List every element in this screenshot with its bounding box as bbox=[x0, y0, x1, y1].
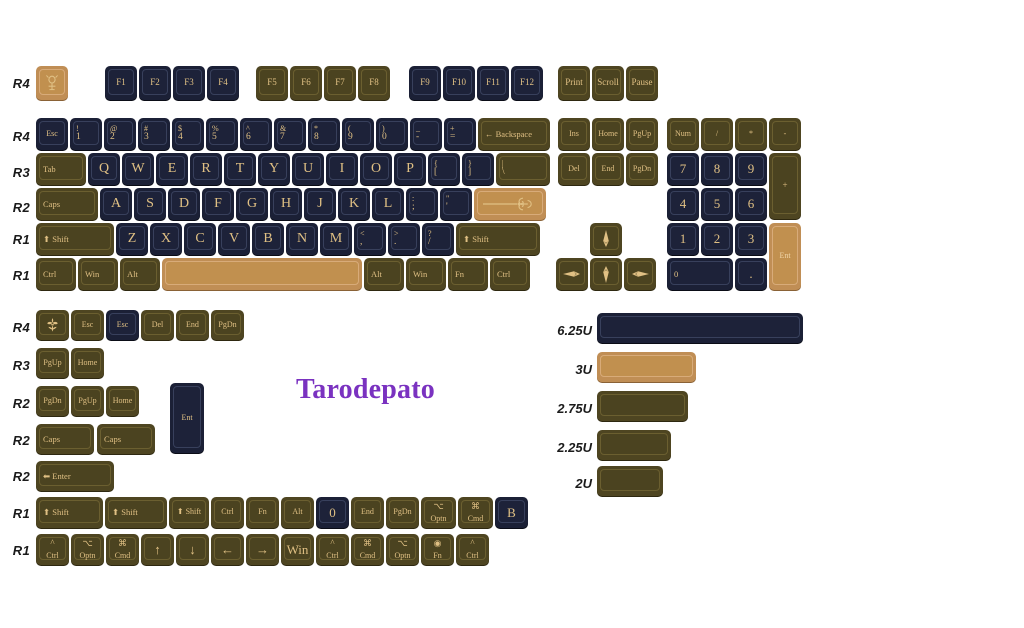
key-alt-r1b-arrow-right-6[interactable]: → bbox=[246, 534, 279, 565]
key-mod-alt-2[interactable]: Alt bbox=[120, 258, 160, 290]
row-label-mod: R1 bbox=[4, 268, 30, 283]
key-alt-r2-pgup-1[interactable]: PgUp bbox=[71, 386, 104, 416]
keycap-face bbox=[179, 537, 206, 560]
key-h[interactable]: H bbox=[270, 188, 302, 220]
keycap-face bbox=[39, 261, 73, 285]
key-caps[interactable]: Caps bbox=[36, 188, 98, 220]
key-alt-r1-pgdn-8[interactable]: PgDn bbox=[386, 497, 419, 528]
keycap-face bbox=[559, 261, 585, 285]
keycap-face bbox=[704, 121, 730, 145]
keycap-face bbox=[738, 121, 764, 145]
keycap-face bbox=[319, 500, 346, 523]
spacebar-size-label: 2.25U bbox=[540, 440, 592, 455]
keycap-face bbox=[108, 500, 164, 523]
keycap-face bbox=[153, 226, 179, 250]
keycap-face bbox=[261, 156, 287, 180]
key-numpad-5[interactable]: 5 bbox=[701, 188, 733, 220]
key-alt-caps-0[interactable]: Caps bbox=[36, 424, 94, 454]
keycap-face bbox=[259, 69, 285, 95]
key-alt-r1-0-6[interactable]: 0 bbox=[316, 497, 349, 528]
keycap-face bbox=[173, 386, 201, 448]
key-alt-caps-1[interactable]: Caps bbox=[97, 424, 155, 454]
key-numpad-2[interactable]: 2 bbox=[701, 223, 733, 255]
key-fn-f11[interactable]: F11 bbox=[477, 66, 509, 100]
keycap-face bbox=[409, 261, 443, 285]
key-f[interactable]: F bbox=[202, 188, 234, 220]
key-sym-comma[interactable]: <, bbox=[354, 223, 386, 255]
key-fn-f5[interactable]: F5 bbox=[256, 66, 288, 100]
keycap-face bbox=[107, 121, 133, 145]
keycap-face bbox=[39, 500, 100, 523]
key-l[interactable]: L bbox=[372, 188, 404, 220]
keycap-face bbox=[738, 261, 764, 285]
keycap-face bbox=[629, 121, 655, 145]
keycap-face bbox=[39, 389, 66, 411]
spacebar-2.75u[interactable] bbox=[597, 391, 688, 421]
key-q[interactable]: Q bbox=[88, 153, 120, 185]
key-numpad-multiply[interactable]: * bbox=[735, 118, 767, 150]
keycap-face bbox=[772, 121, 798, 145]
keycap-face bbox=[425, 226, 451, 250]
keycap-face bbox=[670, 226, 696, 250]
key-arrow-up[interactable] bbox=[590, 223, 622, 255]
key-mod-fn-6[interactable]: Fn bbox=[448, 258, 488, 290]
keycap-face bbox=[179, 313, 206, 335]
key-alt-del-3[interactable]: Del bbox=[141, 310, 174, 340]
key-a[interactable]: A bbox=[100, 188, 132, 220]
keycap-face bbox=[704, 156, 730, 180]
keycap-face bbox=[214, 313, 241, 335]
keycap-face bbox=[319, 537, 346, 560]
key-numpad-divide[interactable]: / bbox=[701, 118, 733, 150]
keycap-face bbox=[738, 226, 764, 250]
keycap-face bbox=[345, 121, 371, 145]
key-tab[interactable]: Tab bbox=[36, 153, 86, 185]
keycap-face bbox=[239, 191, 265, 215]
keycap-face bbox=[144, 537, 171, 560]
key-nav-pgdn[interactable]: PgDn bbox=[626, 153, 658, 185]
key-num-7[interactable]: &7 bbox=[274, 118, 306, 150]
key-arrow-down[interactable] bbox=[590, 258, 622, 290]
key-num-=[interactable]: += bbox=[444, 118, 476, 150]
keycap-face bbox=[284, 500, 311, 523]
key-fn-f7[interactable]: F7 bbox=[324, 66, 356, 100]
key-sym-slash[interactable]: ?/ bbox=[422, 223, 454, 255]
keycap-face bbox=[600, 469, 660, 491]
row-label-fn: R4 bbox=[4, 76, 30, 91]
key-alt-r3-home[interactable]: Home bbox=[71, 348, 104, 378]
keycap-face bbox=[39, 427, 91, 449]
key-num-3[interactable]: #3 bbox=[138, 118, 170, 150]
key-e[interactable]: E bbox=[156, 153, 188, 185]
key-num--[interactable]: _- bbox=[410, 118, 442, 150]
key-d[interactable]: D bbox=[168, 188, 200, 220]
key-shift-left[interactable]: ⬆ Shift bbox=[36, 223, 114, 255]
keycap-face bbox=[277, 121, 303, 145]
keycap-face bbox=[144, 313, 171, 335]
key-alt-esc-1[interactable]: Esc bbox=[71, 310, 104, 340]
keycap-face bbox=[361, 69, 387, 95]
key-num-2[interactable]: @2 bbox=[104, 118, 136, 150]
keycap-face bbox=[629, 156, 655, 180]
keycap-face bbox=[670, 121, 696, 145]
key-r[interactable]: R bbox=[190, 153, 222, 185]
key-alt-r2-home-2[interactable]: Home bbox=[106, 386, 139, 416]
key-numpad-enter[interactable]: Ent bbox=[769, 223, 801, 290]
key-mod-ctrl-0[interactable]: Ctrl bbox=[36, 258, 76, 290]
key-alt-r1b-optn-1[interactable]: ⌥Optn bbox=[71, 534, 104, 565]
key-mod-win-1[interactable]: Win bbox=[78, 258, 118, 290]
key-mod-ctrl-7[interactable]: Ctrl bbox=[490, 258, 530, 290]
key-alt-r1-optn-9[interactable]: ⌥Optn bbox=[421, 497, 456, 528]
key-x[interactable]: X bbox=[150, 223, 182, 255]
key-fn-scroll[interactable]: Scroll bbox=[592, 66, 624, 100]
row-label-z: R1 bbox=[4, 232, 30, 247]
keycap-face bbox=[354, 537, 381, 560]
keycap-face bbox=[465, 156, 491, 180]
row-label-alt-r1b: R1 bbox=[4, 543, 30, 558]
key-num-6[interactable]: ^6 bbox=[240, 118, 272, 150]
key-num-0[interactable]: )0 bbox=[376, 118, 408, 150]
key-w[interactable]: W bbox=[122, 153, 154, 185]
key-alt-r1b-fn-11[interactable]: ◉Fn bbox=[421, 534, 454, 565]
keycap-face bbox=[593, 261, 619, 285]
keycap-face bbox=[307, 191, 333, 215]
key-sym-quote[interactable]: "' bbox=[440, 188, 472, 220]
keycap-face bbox=[480, 69, 506, 95]
keycap-face bbox=[159, 156, 185, 180]
keycap-face bbox=[141, 121, 167, 145]
spacebar-6.25u[interactable] bbox=[597, 313, 803, 343]
key-numpad-6[interactable]: 6 bbox=[735, 188, 767, 220]
keycap-face bbox=[39, 226, 111, 250]
keycap-face bbox=[205, 191, 231, 215]
row-label-q: R3 bbox=[4, 165, 30, 180]
key-num-9[interactable]: (9 bbox=[342, 118, 374, 150]
keycap-face bbox=[74, 313, 101, 335]
keycap-face bbox=[103, 191, 129, 215]
keycap-face bbox=[74, 537, 101, 560]
key-spacebar[interactable] bbox=[162, 258, 362, 290]
key-alt-r1b-ctrl-8[interactable]: ^Ctrl bbox=[316, 534, 349, 565]
key-alt-r1b-arrow-down-4[interactable]: ↓ bbox=[176, 534, 209, 565]
keycap-face bbox=[772, 226, 798, 285]
key-arrow-right[interactable] bbox=[624, 258, 656, 290]
keycap-face bbox=[354, 500, 381, 523]
keycap-face bbox=[142, 69, 168, 95]
key-alt-r1-shift-0[interactable]: ⬆ Shift bbox=[36, 497, 103, 528]
key-alt-r3-pgup[interactable]: PgUp bbox=[36, 348, 69, 378]
key-fn-f3[interactable]: F3 bbox=[173, 66, 205, 100]
keycap-face bbox=[73, 121, 99, 145]
key-p[interactable]: P bbox=[394, 153, 426, 185]
key-numpad-plus[interactable]: + bbox=[769, 153, 801, 219]
spacebar-size-label: 2U bbox=[540, 476, 592, 491]
key-alt-r1b-win-7[interactable]: Win bbox=[281, 534, 314, 565]
spacebar-size-label: 2.75U bbox=[540, 401, 592, 416]
keycap-face bbox=[447, 121, 473, 145]
key-nav-home[interactable]: Home bbox=[592, 118, 624, 150]
key-m[interactable]: M bbox=[320, 223, 352, 255]
key-numpad-7[interactable]: 7 bbox=[667, 153, 699, 185]
keycap-face bbox=[327, 69, 353, 95]
keycap-face bbox=[389, 537, 416, 560]
key-sym-period[interactable]: >. bbox=[388, 223, 420, 255]
keycap-face bbox=[600, 316, 800, 338]
keycap-face bbox=[176, 69, 202, 95]
keycap-face bbox=[210, 69, 236, 95]
keycap-face bbox=[412, 69, 438, 95]
key-num-8[interactable]: *8 bbox=[308, 118, 340, 150]
key-v[interactable]: V bbox=[218, 223, 250, 255]
key-sym-backslash[interactable]: |\ bbox=[496, 153, 550, 185]
keycap-face bbox=[704, 226, 730, 250]
keycap-face bbox=[193, 156, 219, 180]
keycap-face bbox=[108, 69, 134, 95]
keycap-face bbox=[123, 261, 157, 285]
key-nav-ins[interactable]: Ins bbox=[558, 118, 590, 150]
key-fn-f8[interactable]: F8 bbox=[358, 66, 390, 100]
key-nav-del[interactable]: Del bbox=[558, 153, 590, 185]
key-num-1[interactable]: !1 bbox=[70, 118, 102, 150]
keycap-face bbox=[738, 156, 764, 180]
keycap-face bbox=[171, 191, 197, 215]
keycap-face bbox=[91, 156, 117, 180]
keycap-face bbox=[409, 191, 435, 215]
key-numpad-0[interactable]: 0 bbox=[667, 258, 733, 290]
keycap-face bbox=[514, 69, 540, 95]
row-label-alt-r2b: R2 bbox=[4, 433, 30, 448]
keycap-face bbox=[39, 191, 95, 215]
row-label-alt-r2a: R2 bbox=[4, 396, 30, 411]
key-alt-r1b-arrow-up-3[interactable]: ↑ bbox=[141, 534, 174, 565]
key-alt-r1-end-7[interactable]: End bbox=[351, 497, 384, 528]
keycap-face bbox=[293, 69, 319, 95]
key-esc[interactable]: Esc bbox=[36, 118, 68, 150]
key-sym-lbracket[interactable]: {[ bbox=[428, 153, 460, 185]
key-alt-r1-b-11[interactable]: B bbox=[495, 497, 528, 528]
keycap-face bbox=[323, 226, 349, 250]
keycap-face bbox=[39, 69, 65, 95]
key-alt-end-4[interactable]: End bbox=[176, 310, 209, 340]
keycap-face bbox=[593, 226, 619, 250]
keycap-face bbox=[357, 226, 383, 250]
key-b[interactable]: B bbox=[252, 223, 284, 255]
key-alt-esc-2[interactable]: Esc bbox=[106, 310, 139, 340]
keycap-face bbox=[39, 121, 65, 145]
keycap-face bbox=[670, 156, 696, 180]
key-nav-pgup[interactable]: PgUp bbox=[626, 118, 658, 150]
keycap-face bbox=[39, 156, 83, 180]
key-sym-rbracket[interactable]: }] bbox=[462, 153, 494, 185]
keycap-face bbox=[187, 226, 213, 250]
keycap-face bbox=[670, 261, 730, 285]
key-alt-r1b-arrow-left-5[interactable]: ← bbox=[211, 534, 244, 565]
keycap-face bbox=[498, 500, 525, 523]
key-sym-semicolon[interactable]: :; bbox=[406, 188, 438, 220]
key-numpad-decimal[interactable]: . bbox=[735, 258, 767, 290]
key-alt-fleur-novelty[interactable] bbox=[36, 310, 69, 340]
spacebar-2u[interactable] bbox=[597, 466, 663, 496]
key-alt-r1-ctrl-3[interactable]: Ctrl bbox=[211, 497, 244, 528]
key-k[interactable]: K bbox=[338, 188, 370, 220]
keycap-face bbox=[243, 121, 269, 145]
keycap-face bbox=[255, 226, 281, 250]
keycap-face bbox=[627, 261, 653, 285]
key-alt-r1-alt-5[interactable]: Alt bbox=[281, 497, 314, 528]
keycap-face bbox=[39, 313, 66, 335]
key-alt-r1-fn-4[interactable]: Fn bbox=[246, 497, 279, 528]
keycap-face bbox=[109, 389, 136, 411]
keycap-face bbox=[379, 121, 405, 145]
keycap-face bbox=[431, 156, 457, 180]
keycap-face bbox=[175, 121, 201, 145]
key-n[interactable]: N bbox=[286, 223, 318, 255]
row-label-alt-r3: R3 bbox=[4, 358, 30, 373]
keycap-face bbox=[459, 226, 537, 250]
keycap-face bbox=[341, 191, 367, 215]
key-backspace[interactable]: ← Backspace bbox=[478, 118, 550, 150]
keycap-face bbox=[499, 156, 547, 180]
key-numpad-8[interactable]: 8 bbox=[701, 153, 733, 185]
keycap-face bbox=[477, 191, 543, 215]
keycap-face bbox=[772, 156, 798, 214]
keycap-face bbox=[363, 156, 389, 180]
keycap-face bbox=[295, 156, 321, 180]
keycap-face bbox=[74, 389, 101, 411]
keycap-face bbox=[459, 537, 486, 560]
keycap-face bbox=[39, 464, 111, 486]
keycap-face bbox=[413, 121, 439, 145]
keycap-face bbox=[391, 226, 417, 250]
key-fn-f1[interactable]: F1 bbox=[105, 66, 137, 100]
key-numpad-1[interactable]: 1 bbox=[667, 223, 699, 255]
keycap-face bbox=[125, 156, 151, 180]
keycap-face bbox=[600, 433, 668, 455]
keycap-face bbox=[367, 261, 401, 285]
keycap-face bbox=[214, 537, 241, 560]
keycap-face bbox=[74, 351, 101, 373]
keycap-face bbox=[389, 500, 416, 523]
keycap-face bbox=[209, 121, 235, 145]
keycap-set-render: R4 R4 R3 R2 R1 R1 R4 R3 R2 R2 R2 R1 R1 T… bbox=[0, 0, 1024, 628]
key-mod-win-5[interactable]: Win bbox=[406, 258, 446, 290]
keycap-face bbox=[600, 394, 685, 416]
keycap-face bbox=[227, 156, 253, 180]
key-alt-r1b-ctrl-12[interactable]: ^Ctrl bbox=[456, 534, 489, 565]
page-title: Tarodepato bbox=[296, 374, 435, 406]
keycap-face bbox=[595, 69, 621, 95]
key-fn-f4[interactable]: F4 bbox=[207, 66, 239, 100]
key-j[interactable]: J bbox=[304, 188, 336, 220]
key-c[interactable]: C bbox=[184, 223, 216, 255]
keycap-face bbox=[561, 156, 587, 180]
keycap-face bbox=[39, 351, 66, 373]
keycap-face bbox=[249, 537, 276, 560]
key-alt-r2-pgdn-0[interactable]: PgDn bbox=[36, 386, 69, 416]
key-numpad-numlock[interactable]: Num bbox=[667, 118, 699, 150]
key-numpad-3[interactable]: 3 bbox=[735, 223, 767, 255]
key-i[interactable]: I bbox=[326, 153, 358, 185]
keycap-face bbox=[704, 191, 730, 215]
row-label-num: R4 bbox=[4, 129, 30, 144]
key-alt-enter-wide[interactable]: ⬅ Enter bbox=[36, 461, 114, 491]
keycap-face bbox=[311, 121, 337, 145]
key-fn-f10[interactable]: F10 bbox=[443, 66, 475, 100]
keycap-face bbox=[629, 69, 655, 95]
key-alt-r1-cmd-10[interactable]: ⌘Cmd bbox=[458, 497, 493, 528]
key-shift-right[interactable]: ⬆ Shift bbox=[456, 223, 540, 255]
spacebar-3u[interactable] bbox=[597, 352, 696, 382]
keycap-face bbox=[137, 191, 163, 215]
key-numpad-9[interactable]: 9 bbox=[735, 153, 767, 185]
key-nav-end[interactable]: End bbox=[592, 153, 624, 185]
key-y[interactable]: Y bbox=[258, 153, 290, 185]
keycap-face bbox=[451, 261, 485, 285]
key-fn-f12[interactable]: F12 bbox=[511, 66, 543, 100]
key-z[interactable]: Z bbox=[116, 223, 148, 255]
keycap-face bbox=[273, 191, 299, 215]
row-label-alt-r4: R4 bbox=[4, 320, 30, 335]
keycap-face bbox=[100, 427, 152, 449]
key-t[interactable]: T bbox=[224, 153, 256, 185]
key-fn-pause[interactable]: Pause bbox=[626, 66, 658, 100]
key-alt-r1b-cmd-9[interactable]: ⌘Cmd bbox=[351, 534, 384, 565]
key-alt-r1b-optn-10[interactable]: ⌥Optn bbox=[386, 534, 419, 565]
key-alt-r1b-cmd-2[interactable]: ⌘Cmd bbox=[106, 534, 139, 565]
key-alt-r1-shift-2[interactable]: ⬆ Shift bbox=[169, 497, 209, 528]
keycap-face bbox=[375, 191, 401, 215]
keycap-face bbox=[81, 261, 115, 285]
keycap-face bbox=[284, 537, 311, 560]
key-numpad-4[interactable]: 4 bbox=[667, 188, 699, 220]
keycap-face bbox=[172, 500, 206, 523]
key-o[interactable]: O bbox=[360, 153, 392, 185]
key-s[interactable]: S bbox=[134, 188, 166, 220]
keycap-face bbox=[39, 537, 66, 560]
keycap-face bbox=[221, 226, 247, 250]
key-fn-f9[interactable]: F9 bbox=[409, 66, 441, 100]
keycap-face bbox=[595, 156, 621, 180]
keycap-face bbox=[561, 69, 587, 95]
keycap-face bbox=[109, 313, 136, 335]
keycap-face bbox=[329, 156, 355, 180]
key-alt-r1b-ctrl-0[interactable]: ^Ctrl bbox=[36, 534, 69, 565]
key-arrow-left[interactable] bbox=[556, 258, 588, 290]
key-alt-vertical-enter[interactable]: Ent bbox=[170, 383, 204, 453]
keycap-face bbox=[119, 226, 145, 250]
spacebar-size-label: 6.25U bbox=[540, 323, 592, 338]
key-fn-print[interactable]: Print bbox=[558, 66, 590, 100]
key-fn-novelty[interactable] bbox=[36, 66, 68, 100]
spacebar-2.25u[interactable] bbox=[597, 430, 671, 460]
key-enter-novelty[interactable] bbox=[474, 188, 546, 220]
row-label-a: R2 bbox=[4, 200, 30, 215]
key-mod-alt-4[interactable]: Alt bbox=[364, 258, 404, 290]
key-fn-f2[interactable]: F2 bbox=[139, 66, 171, 100]
key-num-5[interactable]: %5 bbox=[206, 118, 238, 150]
keycap-face bbox=[446, 69, 472, 95]
key-u[interactable]: U bbox=[292, 153, 324, 185]
key-numpad-minus[interactable]: - bbox=[769, 118, 801, 150]
key-alt-r1-shift-1[interactable]: ⬆ Shift bbox=[105, 497, 167, 528]
keycap-face bbox=[109, 537, 136, 560]
key-alt-pgdn-5[interactable]: PgDn bbox=[211, 310, 244, 340]
key-num-4[interactable]: $4 bbox=[172, 118, 204, 150]
key-fn-f6[interactable]: F6 bbox=[290, 66, 322, 100]
keycap-face bbox=[249, 500, 276, 523]
key-g[interactable]: G bbox=[236, 188, 268, 220]
